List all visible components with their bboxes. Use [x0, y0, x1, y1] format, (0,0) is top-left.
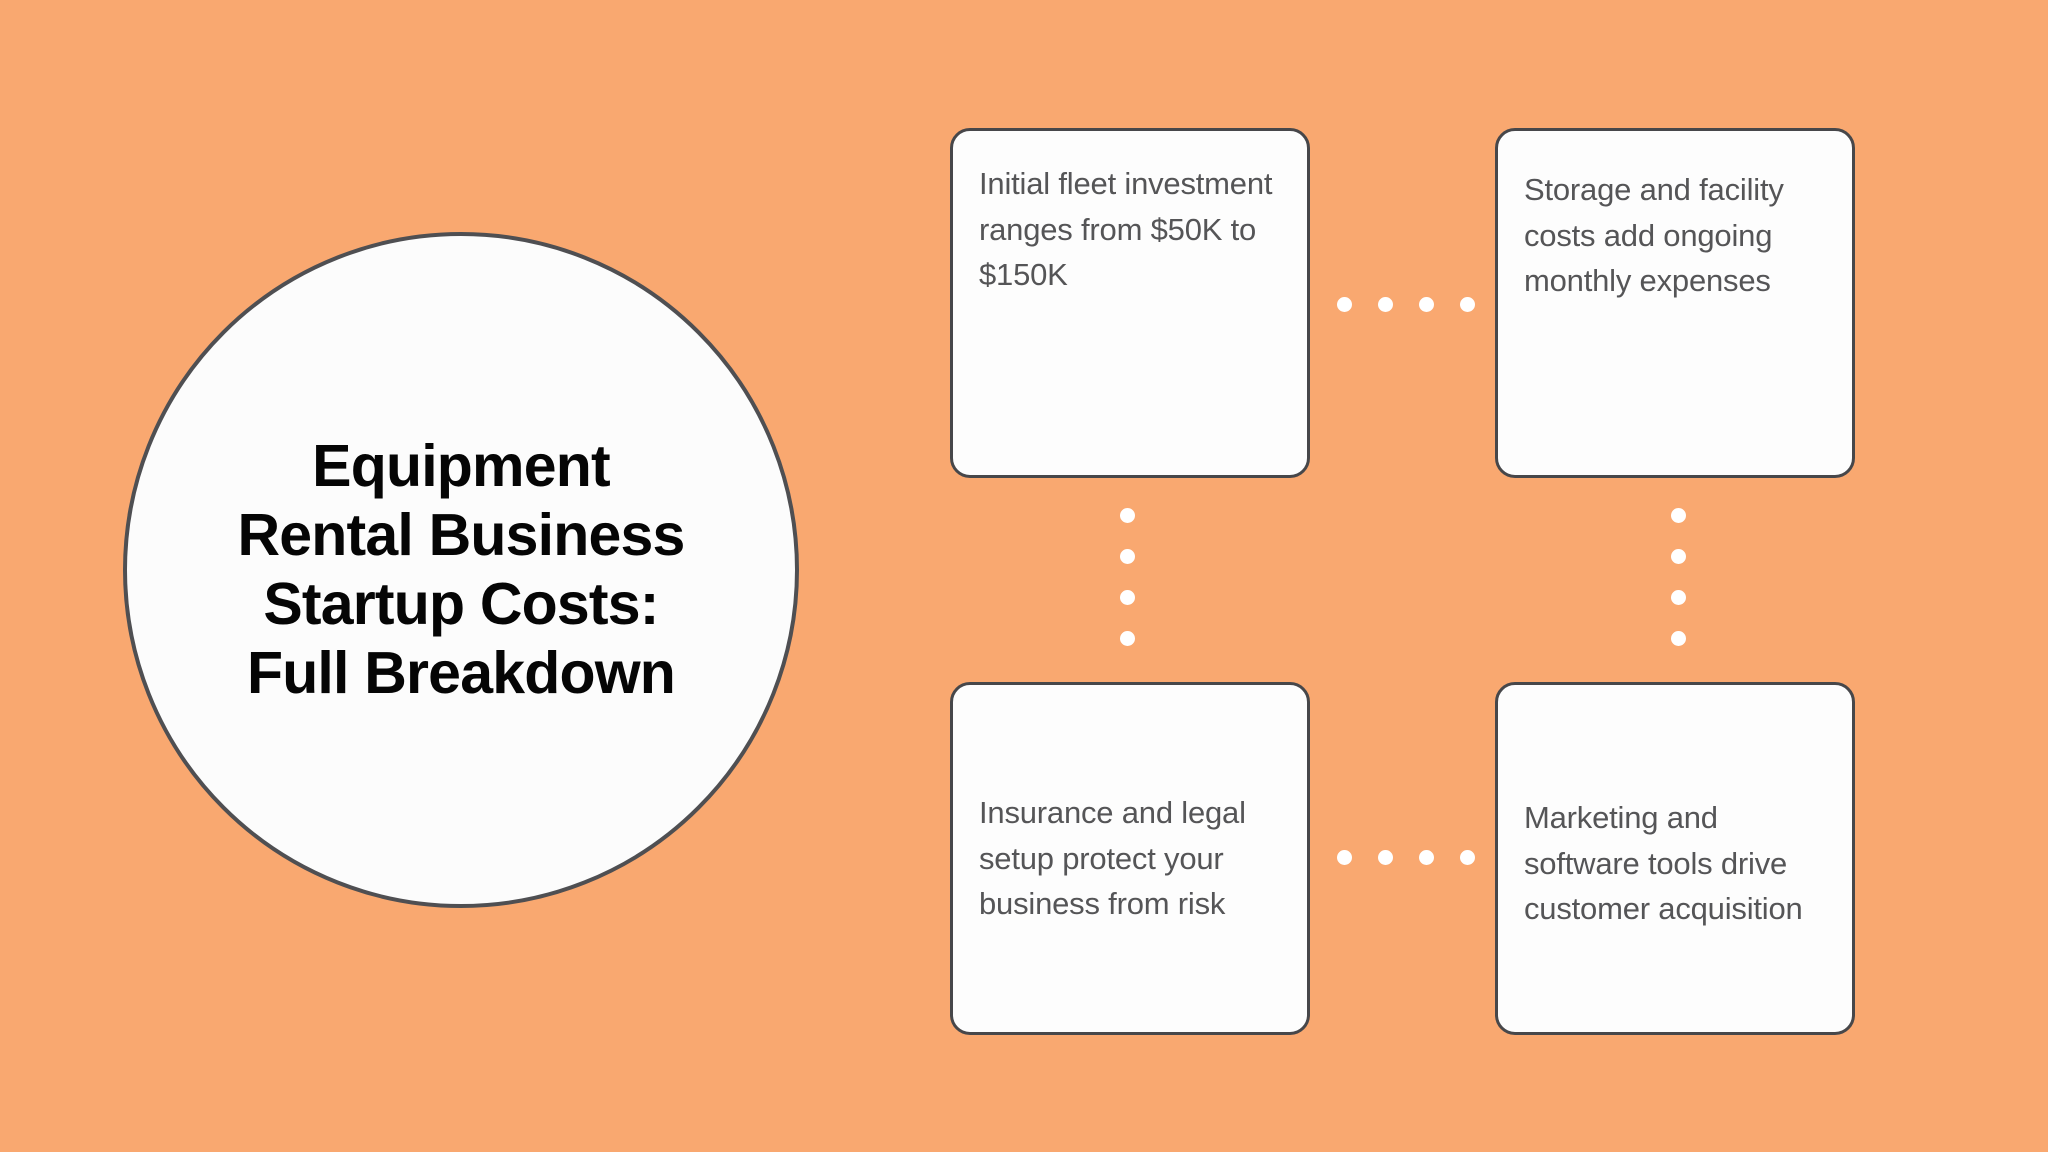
connector-dot [1120, 631, 1135, 646]
card-text: Initial fleet investment ranges from $50… [979, 161, 1281, 298]
connector-dot [1378, 850, 1393, 865]
card-initial-fleet-investment[interactable]: Initial fleet investment ranges from $50… [950, 128, 1310, 478]
connector-dot [1337, 297, 1352, 312]
card-text: Storage and facility costs add ongoing m… [1524, 161, 1826, 304]
connector-dot [1671, 508, 1686, 523]
connector-dot [1460, 850, 1475, 865]
connector-dots-top-horizontal [1337, 297, 1475, 312]
connector-dot [1460, 297, 1475, 312]
connector-dot [1120, 590, 1135, 605]
card-storage-and-facility-costs[interactable]: Storage and facility costs add ongoing m… [1495, 128, 1855, 478]
connector-dot [1419, 297, 1434, 312]
connector-dot [1671, 590, 1686, 605]
connector-dot [1120, 549, 1135, 564]
connector-dots-right-vertical [1671, 508, 1686, 646]
connector-dot [1671, 549, 1686, 564]
connector-dots-bottom-horizontal [1337, 850, 1475, 865]
card-text: Marketing and software tools drive custo… [1524, 789, 1826, 932]
connector-dot [1419, 850, 1434, 865]
hero-circle: Equipment Rental Business Startup Costs:… [123, 232, 799, 908]
connector-dot [1337, 850, 1352, 865]
page-title: Equipment Rental Business Startup Costs:… [237, 432, 684, 708]
card-insurance-and-legal-setup[interactable]: Insurance and legal setup protect your b… [950, 682, 1310, 1035]
connector-dot [1120, 508, 1135, 523]
connector-dot [1378, 297, 1393, 312]
card-text: Insurance and legal setup protect your b… [979, 790, 1281, 931]
connector-dot [1671, 631, 1686, 646]
card-grid: Initial fleet investment ranges from $50… [950, 128, 1855, 1035]
connector-dots-left-vertical [1120, 508, 1135, 646]
card-marketing-and-software-tools[interactable]: Marketing and software tools drive custo… [1495, 682, 1855, 1035]
